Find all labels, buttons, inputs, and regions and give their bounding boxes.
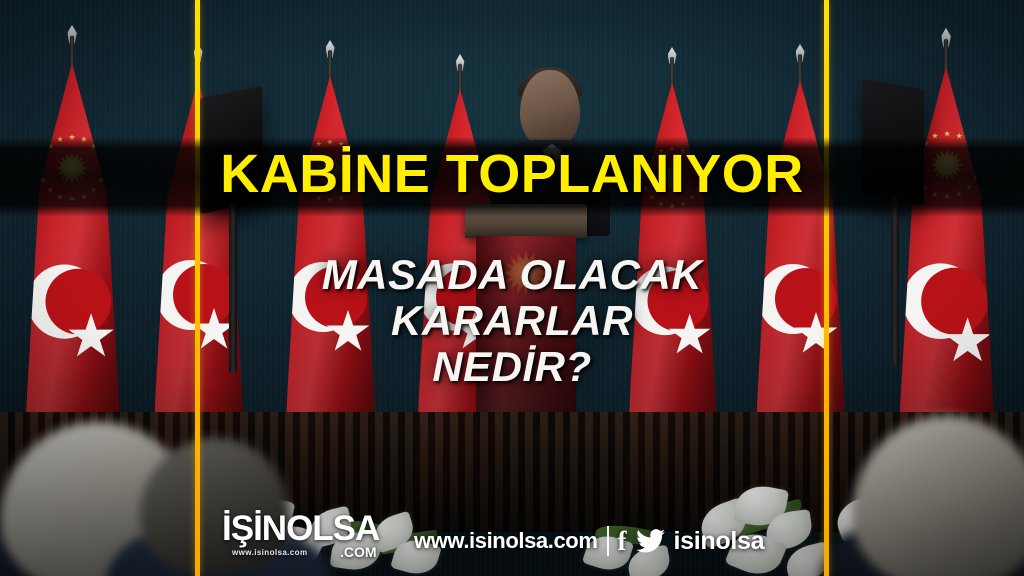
- subtitle-line-1: MASADA OLACAK: [200, 252, 824, 298]
- news-thumbnail-image: KABİNE TOPLANIYOR MASADA OLACAK KARARLAR…: [0, 0, 1024, 576]
- subtitle-text: MASADA OLACAK KARARLAR NEDİR?: [200, 252, 824, 390]
- divider-stripe-right: [824, 0, 829, 576]
- site-url: www.isinolsa.com: [414, 528, 598, 554]
- social-handle: isinolsa: [674, 527, 765, 556]
- footer-separator: [607, 526, 609, 556]
- logo-wordmark: İŞİNOLSA: [222, 512, 388, 546]
- headline-text: KABİNE TOPLANIYOR: [0, 143, 1024, 205]
- site-logo: İŞİNOLSA www.isinolsa.com .COM: [222, 512, 388, 570]
- audience-member: [836, 408, 1024, 576]
- facebook-icon: f: [618, 528, 627, 555]
- logo-subtext: www.isinolsa.com: [232, 548, 307, 557]
- footer-watermark: www.isinolsa.com f isinolsa: [414, 526, 764, 556]
- subtitle-line-3: NEDİR?: [200, 344, 824, 390]
- logo-suffix: .COM: [340, 544, 377, 560]
- flower-arrangement-right: [580, 464, 840, 576]
- subtitle-line-2: KARARLAR: [200, 298, 824, 344]
- twitter-bird-icon: [636, 529, 665, 553]
